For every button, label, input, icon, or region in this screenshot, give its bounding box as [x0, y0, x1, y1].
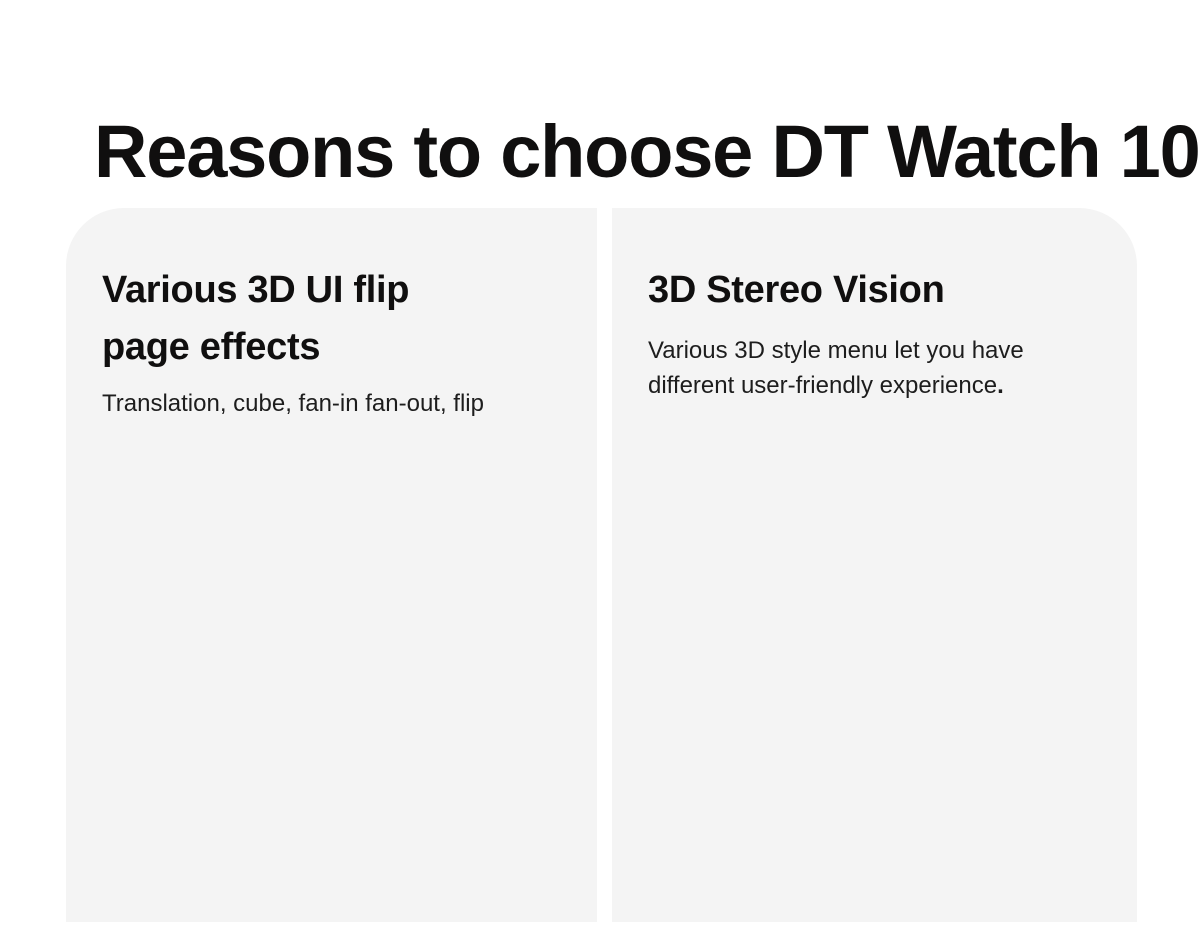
feature-card-description: Various 3D style menu let you have diffe… — [648, 333, 1100, 403]
feature-card-title: 3D Stereo Vision — [648, 262, 1103, 319]
page-title: Reasons to choose DT Watch 10 — [94, 110, 1134, 194]
feature-panel-group: Various 3D UI flip page effects Translat… — [0, 208, 1200, 922]
feature-card-description-text: Various 3D style menu let you have diffe… — [648, 337, 1024, 399]
feature-card-title: Various 3D UI flip page effects — [102, 262, 502, 376]
feature-card-3d-stereo-vision: 3D Stereo Vision Various 3D style menu l… — [612, 208, 1137, 922]
feature-card-description: Translation, cube, fan-in fan-out, flip — [102, 386, 563, 421]
feature-card-description-terminator: . — [997, 372, 1004, 399]
marketing-feature-page: Reasons to choose DT Watch 10 Various 3D… — [0, 0, 1200, 934]
feature-card-various-3d-ui-flip-page-effects: Various 3D UI flip page effects Translat… — [66, 208, 597, 922]
